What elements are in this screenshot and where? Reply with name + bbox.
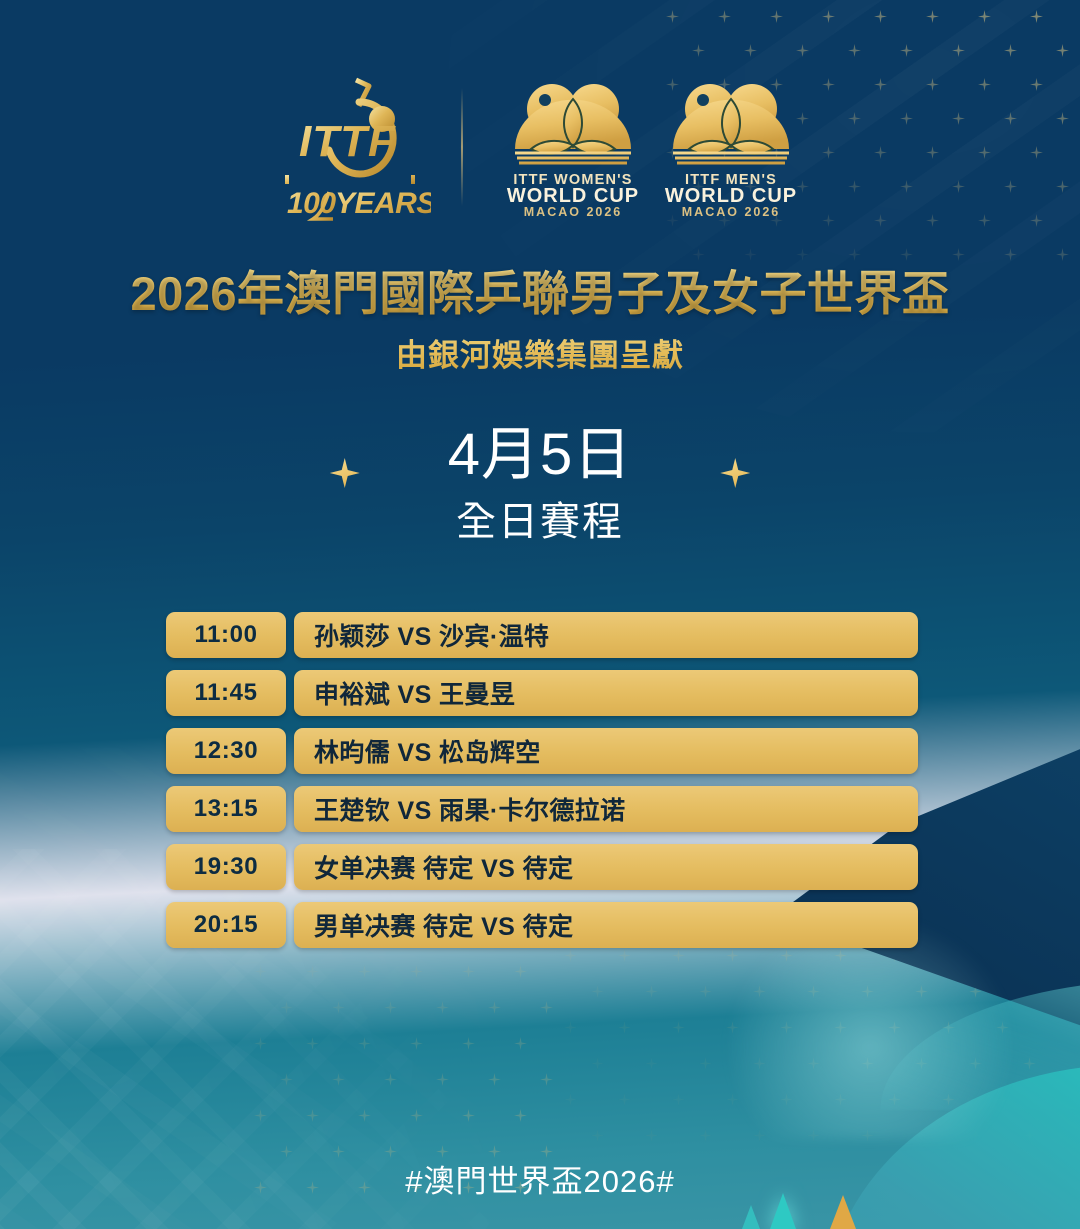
four-point-star-icon	[1004, 248, 1017, 261]
four-point-star-icon	[978, 10, 991, 23]
four-point-star-icon	[280, 1001, 293, 1014]
match-entry-label: 申裕斌 VS 王曼昱	[314, 675, 515, 711]
four-point-star-icon	[618, 949, 631, 962]
match-entry-pill[interactable]: 申裕斌 VS 王曼昱	[294, 670, 918, 716]
four-point-star-icon	[645, 985, 658, 998]
poster-root: ITTF 100 YEARS	[0, 0, 1080, 1229]
match-time-label: 12:30	[194, 737, 258, 765]
four-point-star-icon	[462, 965, 475, 978]
four-point-star-icon	[645, 1057, 658, 1070]
four-point-star-icon	[1056, 248, 1069, 261]
four-point-star-icon	[436, 1001, 449, 1014]
date-label: 4月5日	[448, 424, 633, 485]
four-point-star-icon	[1056, 44, 1069, 57]
match-time-pill[interactable]: 20:15	[166, 902, 286, 948]
match-time-pill[interactable]: 11:00	[166, 612, 286, 658]
four-point-star-icon	[874, 10, 887, 23]
four-point-star-icon	[672, 949, 685, 962]
four-point-star-icon	[618, 1093, 631, 1106]
match-entry-label: 男单决赛 待定 VS 待定	[314, 907, 573, 943]
four-point-star-icon	[822, 10, 835, 23]
four-point-star-icon	[952, 44, 965, 57]
four-point-star-icon	[384, 1073, 397, 1086]
four-point-star-icon	[564, 949, 577, 962]
match-time-pill[interactable]: 12:30	[166, 728, 286, 774]
match-time-label: 13:15	[194, 795, 258, 823]
four-point-star-icon	[692, 44, 705, 57]
four-point-star-icon	[436, 1073, 449, 1086]
four-point-star-icon	[796, 44, 809, 57]
four-point-star-icon	[672, 1093, 685, 1106]
schedule-row: 19:30女单决赛 待定 VS 待定	[166, 844, 918, 890]
four-point-star-icon	[254, 1037, 267, 1050]
four-point-star-icon	[384, 1001, 397, 1014]
four-point-star-icon	[254, 965, 267, 978]
four-point-star-icon	[358, 1037, 371, 1050]
four-point-star-icon	[744, 248, 757, 261]
four-point-star-icon	[618, 1021, 631, 1034]
four-point-star-icon	[718, 10, 731, 23]
logo-row: ITTF 100 YEARS	[0, 72, 1080, 222]
four-point-star-icon	[591, 1057, 604, 1070]
match-entry-label: 女单决赛 待定 VS 待定	[314, 849, 573, 885]
four-point-star-icon	[900, 44, 913, 57]
four-point-star-icon	[796, 248, 809, 261]
page-title: 2026年澳門國際乒聯男子及女子世界盃	[0, 268, 1080, 321]
schedule-list: 11:00孙颖莎 VS 沙宾·温特11:45申裕斌 VS 王曼昱12:30林昀儒…	[166, 612, 918, 948]
match-entry-label: 孙颖莎 VS 沙宾·温特	[314, 617, 549, 653]
match-time-pill[interactable]: 11:45	[166, 670, 286, 716]
ittf-100-years-logo: ITTF 100 YEARS	[273, 72, 431, 222]
match-entry-label: 王楚钦 VS 雨果·卡尔德拉诺	[314, 791, 626, 827]
four-point-star-icon	[770, 10, 783, 23]
match-time-label: 11:45	[194, 679, 257, 707]
schedule-row: 12:30林昀儒 VS 松岛辉空	[166, 728, 918, 774]
four-point-star-icon	[666, 10, 679, 23]
match-time-pill[interactable]: 13:15	[166, 786, 286, 832]
match-time-pill[interactable]: 19:30	[166, 844, 286, 890]
wc-logo-line2: WORLD CUP	[507, 185, 639, 207]
four-point-star-icon	[410, 1109, 423, 1122]
four-point-star-icon	[410, 965, 423, 978]
svg-text:ITTF: ITTF	[299, 117, 396, 166]
four-point-star-icon	[564, 1093, 577, 1106]
schedule-row: 13:15王楚钦 VS 雨果·卡尔德拉诺	[166, 786, 918, 832]
svg-text:100: 100	[287, 187, 336, 220]
four-point-star-icon	[306, 1037, 319, 1050]
ittf-womens-world-cup-logo: ITTF WOMEN'S WORLD CUP MACAO 2026	[497, 77, 649, 217]
date-center: 4月5日 全日賽程	[448, 424, 633, 547]
svg-text:YEARS: YEARS	[335, 187, 431, 220]
four-point-star-icon	[358, 965, 371, 978]
wc-logo-line3: MACAO 2026	[682, 205, 781, 217]
match-entry-pill[interactable]: 孙颖莎 VS 沙宾·温特	[294, 612, 918, 658]
hashtag-label: #澳門世界盃2026#	[405, 1164, 674, 1199]
page-subtitle: 由銀河娛樂集團呈獻	[0, 330, 1080, 375]
four-point-star-icon	[462, 1037, 475, 1050]
four-point-star-icon	[591, 985, 604, 998]
four-point-star-icon	[540, 1073, 553, 1086]
four-point-star-icon	[952, 248, 965, 261]
four-point-star-icon	[848, 248, 861, 261]
four-point-star-icon	[692, 248, 705, 261]
four-point-star-icon	[410, 1037, 423, 1050]
logo-divider	[461, 88, 463, 206]
four-point-star-icon	[564, 1021, 577, 1034]
four-point-star-icon	[306, 1109, 319, 1122]
four-point-star-icon	[591, 1129, 604, 1142]
ittf-mens-world-cup-logo: ITTF MEN'S WORLD CUP MACAO 2026	[655, 77, 807, 217]
four-point-star-icon	[332, 1001, 345, 1014]
four-point-star-icon	[1004, 44, 1017, 57]
four-point-star-icon	[744, 44, 757, 57]
four-point-star-icon	[462, 1109, 475, 1122]
four-point-star-icon	[540, 1001, 553, 1014]
wc-logo-line2: WORLD CUP	[665, 185, 797, 207]
four-point-star-icon	[280, 1073, 293, 1086]
four-point-star-icon	[488, 1073, 501, 1086]
match-time-label: 20:15	[194, 911, 258, 939]
four-point-star-icon	[358, 1109, 371, 1122]
four-point-star-icon	[514, 1037, 527, 1050]
footer: #澳門世界盃2026#	[0, 1156, 1080, 1201]
four-point-star-icon	[514, 965, 527, 978]
four-point-star-icon	[900, 248, 913, 261]
four-point-star-icon	[254, 1109, 267, 1122]
four-point-star-icon	[332, 1073, 345, 1086]
four-point-star-icon	[514, 1109, 527, 1122]
schedule-row: 11:00孙颖莎 VS 沙宾·温特	[166, 612, 918, 658]
match-entry-label: 林昀儒 VS 松岛辉空	[314, 733, 541, 769]
match-time-label: 11:00	[194, 621, 257, 649]
four-point-star-icon	[848, 44, 861, 57]
four-point-star-icon	[699, 1057, 712, 1070]
four-point-star-icon	[1030, 10, 1043, 23]
schedule-row: 11:45申裕斌 VS 王曼昱	[166, 670, 918, 716]
match-entry-pill[interactable]: 林昀儒 VS 松岛辉空	[294, 728, 918, 774]
four-point-star-icon	[645, 1129, 658, 1142]
schedule-row: 20:15男单决赛 待定 VS 待定	[166, 902, 918, 948]
title-block: 2026年澳門國際乒聯男子及女子世界盃 由銀河娛樂集團呈獻	[0, 268, 1080, 375]
four-point-star-icon	[306, 965, 319, 978]
match-entry-pill[interactable]: 女单决赛 待定 VS 待定	[294, 844, 918, 890]
four-point-star-icon	[672, 1021, 685, 1034]
four-point-star-icon-right	[720, 458, 750, 488]
date-subtitle-label: 全日賽程	[448, 489, 633, 547]
four-point-star-icon	[699, 1129, 712, 1142]
four-point-star-icon	[699, 985, 712, 998]
four-point-star-icon-left	[330, 458, 360, 488]
match-time-label: 19:30	[194, 853, 258, 881]
date-block: 4月5日 全日賽程	[0, 424, 1080, 547]
match-entry-pill[interactable]: 王楚钦 VS 雨果·卡尔德拉诺	[294, 786, 918, 832]
four-point-star-icon	[488, 1001, 501, 1014]
wc-logo-line3: MACAO 2026	[524, 205, 623, 217]
match-entry-pill[interactable]: 男单决赛 待定 VS 待定	[294, 902, 918, 948]
four-point-star-icon	[926, 10, 939, 23]
small-cyan-triangle-decoration	[742, 1205, 760, 1229]
